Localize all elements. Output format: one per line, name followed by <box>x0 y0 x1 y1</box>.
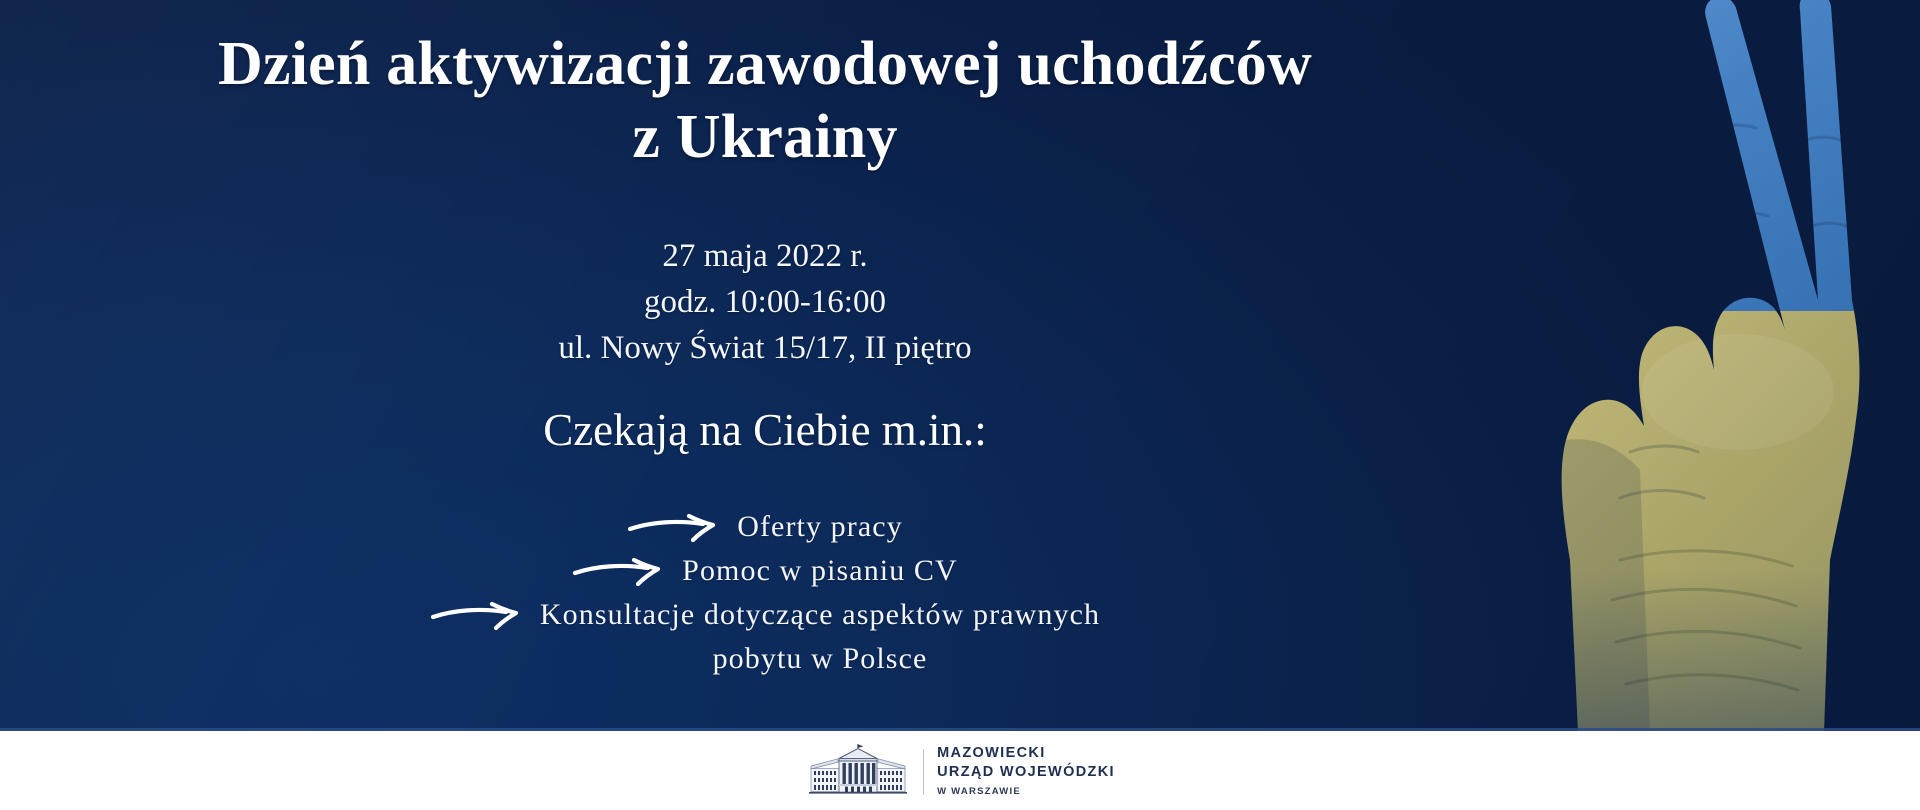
arrow-right-icon <box>572 557 668 587</box>
list-item-label: Pomoc w pisaniu CV <box>682 549 958 593</box>
ukraine-flag-victory-hand-image <box>1500 0 1920 731</box>
mazowiecki-office-logo: MAZOWIECKI URZĄD WOJEWÓDZKI W WARSZAWIE <box>805 744 1115 800</box>
title-line-1: Dzień aktywizacji zawodowej uchodźców <box>0 28 1530 101</box>
event-time: godz. 10:00-16:00 <box>0 279 1530 325</box>
list-item: Oferty pracy <box>0 505 1530 549</box>
list-item-label: Oferty pracy <box>737 505 903 549</box>
footer-bar: MAZOWIECKI URZĄD WOJEWÓDZKI W WARSZAWIE <box>0 734 1920 810</box>
list-item: Pomoc w pisaniu CV <box>0 549 1530 593</box>
page-title: Dzień aktywizacji zawodowej uchodźców z … <box>0 28 1530 174</box>
logo-line-3: W WARSZAWIE <box>937 784 1115 800</box>
poster-banner: Dzień aktywizacji zawodowej uchodźców z … <box>0 0 1920 731</box>
government-building-icon <box>805 744 911 801</box>
logo-divider <box>923 749 924 795</box>
list-item: Konsultacje dotyczące aspektów prawnych … <box>0 593 1530 681</box>
banner-bottom-divider <box>0 728 1920 731</box>
poster-text-column: Dzień aktywizacji zawodowej uchodźców z … <box>0 0 1530 731</box>
title-line-2: z Ukrainy <box>0 101 1530 174</box>
logo-line-2: URZĄD WOJEWÓDZKI <box>937 763 1115 782</box>
list-item-label: Konsultacje dotyczące aspektów prawnych … <box>540 593 1100 681</box>
offer-intro-heading: Czekają na Ciebie m.in.: <box>0 405 1530 457</box>
arrow-right-icon <box>627 513 723 543</box>
event-details: 27 maja 2022 r. godz. 10:00-16:00 ul. No… <box>0 233 1530 371</box>
event-address: ul. Nowy Świat 15/17, II piętro <box>0 325 1530 371</box>
arrow-right-icon <box>430 601 526 631</box>
logo-line-1: MAZOWIECKI <box>937 744 1115 763</box>
offer-list: Oferty pracy Pomoc w pisaniu CV <box>0 505 1530 681</box>
event-date: 27 maja 2022 r. <box>0 233 1530 279</box>
poster-root: Dzień aktywizacji zawodowej uchodźców z … <box>0 0 1920 810</box>
logo-wordmark: MAZOWIECKI URZĄD WOJEWÓDZKI W WARSZAWIE <box>937 744 1115 800</box>
